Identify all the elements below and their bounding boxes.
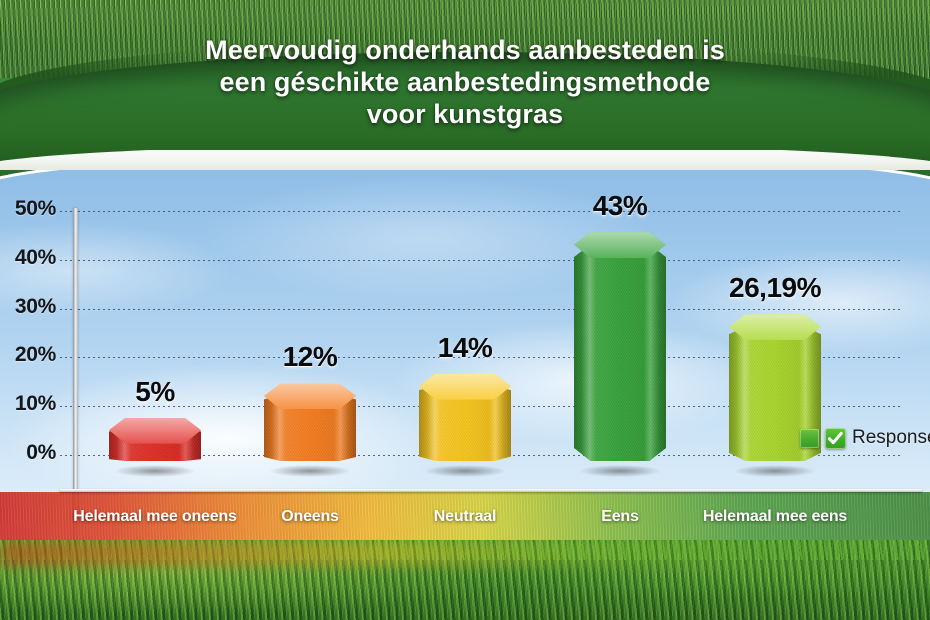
gridline	[78, 211, 900, 212]
footer-grass	[0, 540, 930, 620]
y-axis-tick-label: 40%	[0, 246, 56, 270]
header-banner: Meervoudig onderhands aanbesteden is een…	[0, 0, 930, 160]
bar-ground-shadow	[115, 465, 196, 477]
legend[interactable]: Responses	[800, 425, 930, 451]
y-axis-tick-label: 0%	[0, 441, 56, 465]
bar-ground-shadow	[425, 465, 506, 477]
y-tick-mark	[60, 211, 72, 212]
title-line-2: een géschikte aanbestedingsmethode	[0, 66, 930, 98]
y-axis-tick-label: 20%	[0, 343, 56, 367]
legend-label: Responses	[852, 427, 930, 449]
bar-top-face	[729, 314, 821, 340]
y-tick-mark	[60, 260, 72, 261]
poster-root: Meervoudig onderhands aanbesteden is een…	[0, 0, 930, 620]
bar-top-face	[574, 232, 666, 258]
y-axis-line	[73, 208, 78, 520]
y-axis-tick-label: 50%	[0, 197, 56, 221]
bar-3[interactable]	[574, 232, 666, 473]
page-title: Meervoudig onderhands aanbesteden is een…	[0, 34, 930, 130]
bar-2[interactable]	[419, 374, 511, 473]
bar-value-label: 26,19%	[665, 272, 885, 304]
y-axis-tick-label: 30%	[0, 295, 56, 319]
axis-baseline	[60, 489, 922, 492]
bar-value-label: 14%	[355, 332, 575, 364]
bar-value-label: 5%	[45, 376, 265, 408]
y-tick-mark	[60, 455, 72, 456]
gridline	[78, 309, 900, 310]
bar-0[interactable]	[109, 418, 201, 473]
checkbox-icon[interactable]	[825, 428, 846, 449]
bar-texture	[574, 244, 666, 461]
bar-value-label: 43%	[510, 190, 730, 222]
category-label: Helemaal mee eens	[665, 508, 885, 526]
bar-top-face	[419, 374, 511, 400]
bar-1[interactable]	[264, 383, 356, 473]
bar-top-face	[264, 383, 356, 409]
y-tick-mark	[60, 309, 72, 310]
bar-ground-shadow	[580, 465, 661, 477]
bar-top-face	[109, 418, 201, 444]
legend-color-swatch	[800, 429, 819, 448]
gridline	[78, 260, 900, 261]
title-line-1: Meervoudig onderhands aanbesteden is	[0, 34, 930, 66]
bar-ground-shadow	[270, 465, 351, 477]
title-line-3: voor kunstgras	[0, 98, 930, 130]
bar-ground-shadow	[735, 465, 816, 477]
grass-blade-overlay	[0, 540, 930, 560]
y-tick-mark	[60, 357, 72, 358]
